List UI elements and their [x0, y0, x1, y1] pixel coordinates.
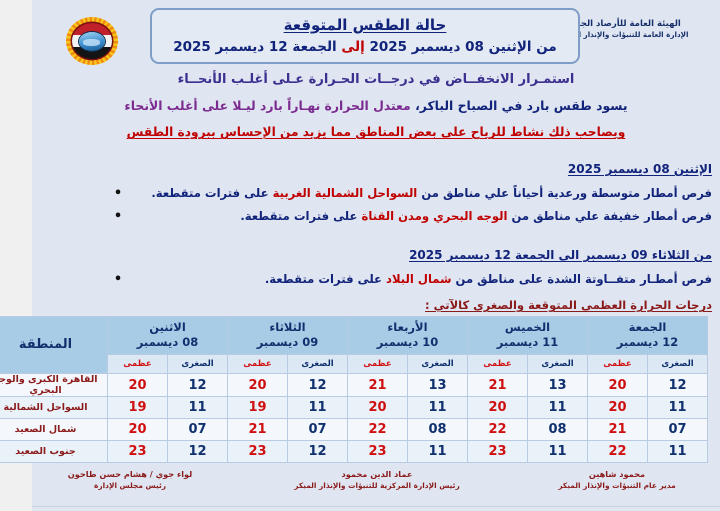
- cell-max: 21: [588, 419, 648, 441]
- cell-min: 12: [168, 374, 228, 397]
- max-label-monday: عظمى: [108, 354, 168, 373]
- table-header-days: الجمعة 12 ديسمبر الخميس 11 ديسمبر الأربع…: [0, 317, 708, 355]
- min-label-wednesday: الصغرى: [408, 354, 468, 373]
- cell-max: 21: [228, 419, 288, 441]
- cell-max: 19: [228, 397, 288, 419]
- day-name: الخميس: [468, 320, 587, 336]
- table-row: 11 20 11 20 11 20 11 19 11 19 السواحل ال…: [0, 397, 708, 419]
- signature-chairman: لواء جوي / هشام حسن طاحون رئيس مجلس الإد…: [40, 468, 220, 491]
- signature-role: مدير عام التنبؤات والإنذار المبكر: [522, 480, 712, 491]
- day-date: 12 ديسمبر: [588, 335, 707, 351]
- cell-max: 20: [468, 397, 528, 419]
- intro-line-3: ويصاحب ذلك نشاط للرياح على بعض المناطق م…: [32, 123, 720, 142]
- date-range-connector: إلى: [341, 39, 364, 55]
- bullet-text: فرص أمطار خفيفة علي مناطق من الوجه البحر…: [124, 208, 712, 225]
- signature-name: لواء جوي / هشام حسن طاحون: [40, 468, 220, 480]
- cell-min: 07: [168, 419, 228, 441]
- intro-block: استمـرار الانخفــاض في درجــات الحـرارة …: [32, 70, 720, 142]
- cell-min: 12: [168, 441, 228, 463]
- document-header: الهيئة العامة للأرصاد الجوية الإدارة الع…: [32, 0, 720, 72]
- cell-max: 20: [228, 374, 288, 397]
- cell-min: 11: [288, 397, 348, 419]
- cell-min: 11: [528, 397, 588, 419]
- list-item: فرص أمطار متوسطة ورعدية أحياناً علي مناط…: [112, 185, 712, 203]
- title-box: حالة الطقس المتوقعة من الإثنين 08 ديسمبر…: [150, 8, 580, 64]
- cell-min: 08: [408, 419, 468, 441]
- cell-max: 20: [108, 419, 168, 441]
- region-name: القاهرة الكبرى والوجه البحري: [0, 374, 108, 397]
- cell-min: 12: [288, 441, 348, 463]
- max-label-friday: عظمى: [588, 354, 648, 373]
- signature-role: رئيس مجلس الإدارة: [40, 480, 220, 491]
- day-name: الأربعاء: [348, 320, 467, 336]
- min-label-thursday: الصغرى: [528, 354, 588, 373]
- cell-min: 07: [288, 419, 348, 441]
- list-item: فرص أمطار خفيفة علي مناطق من الوجه البحر…: [112, 208, 712, 226]
- bullet-text-a: فرص أمطار متوسطة ورعدية أحياناً علي مناط…: [421, 186, 712, 200]
- bullet-text: فرص أمطار متوسطة ورعدية أحياناً علي مناط…: [124, 185, 712, 202]
- cell-max: 23: [108, 441, 168, 463]
- cell-max: 20: [348, 397, 408, 419]
- region-name: السواحل الشمالية: [0, 397, 108, 419]
- day-date: 09 ديسمبر: [228, 335, 347, 351]
- day-header-tuesday: الثلاثاء 09 ديسمبر: [228, 317, 348, 355]
- temperature-table-caption: درجات الحرارة العظمى المتوقعة والصغرى كا…: [425, 298, 712, 312]
- bullet-text-c: على فترات متقطعة.: [265, 272, 382, 286]
- document-footer: محمود شاهين مدير عام التنبؤات والإنذار ا…: [32, 466, 720, 506]
- table-row: 07 21 08 22 08 22 07 21 07 20 شمال الصعي…: [0, 419, 708, 441]
- section-heading-monday: الإثنين 08 ديسمبر 2025: [568, 162, 712, 176]
- cell-min: 11: [648, 441, 708, 463]
- bullet-dot-icon: •: [112, 208, 124, 226]
- signature-forecast-director: محمود شاهين مدير عام التنبؤات والإنذار ا…: [522, 468, 712, 491]
- cell-max: 22: [468, 419, 528, 441]
- table-row: 12 20 13 21 13 21 12 20 12 20 القاهرة ال…: [0, 374, 708, 397]
- section-bullets-tue-fri: فرص أمطـار متفــاوتة الشدة على مناطق من …: [112, 271, 712, 294]
- cell-min: 12: [648, 374, 708, 397]
- cell-max: 23: [348, 441, 408, 463]
- bullet-text-highlight: شمال البلاد: [386, 272, 451, 286]
- cell-min: 11: [408, 441, 468, 463]
- intro-line-2-part-a: يسود طقس بارد في الصباح الباكر،: [415, 98, 628, 113]
- region-name: جنوب الصعيد: [0, 441, 108, 463]
- temperature-table-wrap: الجمعة 12 ديسمبر الخميس 11 ديسمبر الأربع…: [44, 316, 708, 463]
- signature-name: محمود شاهين: [522, 468, 712, 480]
- bullet-text-a: فرص أمطار خفيفة علي مناطق من: [512, 209, 713, 223]
- cell-min: 11: [648, 397, 708, 419]
- cell-min: 08: [528, 419, 588, 441]
- day-date: 10 ديسمبر: [348, 335, 467, 351]
- date-range-end: الجمعة 12 ديسمبر 2025: [173, 39, 336, 55]
- cell-max: 22: [348, 419, 408, 441]
- bullet-dot-icon: •: [112, 271, 124, 289]
- bullet-text-highlight: الوجه البحري ومدن القناة: [362, 209, 508, 223]
- day-header-thursday: الخميس 11 ديسمبر: [468, 317, 588, 355]
- cell-max: 23: [228, 441, 288, 463]
- day-date: 11 ديسمبر: [468, 335, 587, 351]
- signature-central-head: عماد الدين محمود رئيس الإدارة المركزية ل…: [270, 468, 484, 491]
- day-header-monday: الاثنين 08 ديسمبر: [108, 317, 228, 355]
- cell-max: 20: [588, 397, 648, 419]
- globe-icon: [79, 32, 105, 51]
- cell-min: 11: [408, 397, 468, 419]
- table-row: 11 22 11 23 11 23 12 23 12 23 جنوب الصعي…: [0, 441, 708, 463]
- day-header-wednesday: الأربعاء 10 ديسمبر: [348, 317, 468, 355]
- bullet-text-c: على فترات متقطعة.: [151, 186, 268, 200]
- signature-role: رئيس الإدارة المركزية للتنبؤات والإنذار …: [270, 480, 484, 491]
- region-column-header: المنطقة: [0, 317, 108, 374]
- day-header-friday: الجمعة 12 ديسمبر: [588, 317, 708, 355]
- temperature-table-body: 12 20 13 21 13 21 12 20 12 20 القاهرة ال…: [0, 374, 708, 463]
- cell-min: 07: [648, 419, 708, 441]
- bullet-text: فرص أمطـار متفــاوتة الشدة على مناطق من …: [124, 271, 712, 288]
- min-label-monday: الصغرى: [168, 354, 228, 373]
- bullet-text-c: على فترات متقطعة.: [240, 209, 357, 223]
- temperature-table: الجمعة 12 ديسمبر الخميس 11 ديسمبر الأربع…: [0, 316, 708, 463]
- cell-min: 13: [408, 374, 468, 397]
- cell-max: 21: [348, 374, 408, 397]
- cell-max: 22: [588, 441, 648, 463]
- cell-max: 20: [588, 374, 648, 397]
- intro-line-2: يسود طقس بارد في الصباح الباكر، معتدل ال…: [32, 96, 720, 115]
- list-item: فرص أمطـار متفــاوتة الشدة على مناطق من …: [112, 271, 712, 289]
- bullet-dot-icon: •: [112, 185, 124, 203]
- section-bullets-monday: فرص أمطار متوسطة ورعدية أحياناً علي مناط…: [112, 185, 712, 230]
- page-root: الهيئة العامة للأرصاد الجوية الإدارة الع…: [0, 0, 720, 511]
- cell-min: 11: [528, 441, 588, 463]
- max-label-thursday: عظمى: [468, 354, 528, 373]
- day-date: 08 ديسمبر: [108, 335, 227, 351]
- bullet-text-a: فرص أمطـار متفــاوتة الشدة على مناطق من: [456, 272, 712, 286]
- cell-min: 11: [168, 397, 228, 419]
- document-sheet: الهيئة العامة للأرصاد الجوية الإدارة الع…: [32, 0, 720, 511]
- cell-max: 21: [468, 374, 528, 397]
- max-label-wednesday: عظمى: [348, 354, 408, 373]
- cell-max: 19: [108, 397, 168, 419]
- cell-max: 20: [108, 374, 168, 397]
- day-name: الجمعة: [588, 320, 707, 336]
- cell-min: 12: [288, 374, 348, 397]
- signature-name: عماد الدين محمود: [270, 468, 484, 480]
- footer-divider: [32, 506, 720, 507]
- intro-line-1: استمـرار الانخفــاض في درجــات الحـرارة …: [32, 70, 720, 90]
- day-name: الاثنين: [108, 320, 227, 336]
- date-range: من الإثنين 08 ديسمبر 2025 إلى الجمعة 12 …: [152, 39, 578, 55]
- cell-min: 13: [528, 374, 588, 397]
- bullet-text-highlight: السواحل الشمالية الغربية: [273, 186, 418, 200]
- page-title: حالة الطقس المتوقعة: [152, 16, 578, 34]
- intro-line-2-part-b: معتدل الحرارة نهـاراً بارد ليـلا على أغل…: [124, 98, 410, 113]
- ema-logo-icon: [60, 16, 124, 66]
- day-name: الثلاثاء: [228, 320, 347, 336]
- min-label-friday: الصغرى: [648, 354, 708, 373]
- date-range-start: من الإثنين 08 ديسمبر 2025: [369, 39, 556, 55]
- cell-max: 23: [468, 441, 528, 463]
- min-label-tuesday: الصغرى: [288, 354, 348, 373]
- section-heading-tue-fri: من الثلاثاء 09 ديسمبر الى الجمعة 12 ديسم…: [409, 248, 712, 262]
- region-name: شمال الصعيد: [0, 419, 108, 441]
- max-label-tuesday: عظمى: [228, 354, 288, 373]
- flag-disc-shape: [72, 23, 112, 59]
